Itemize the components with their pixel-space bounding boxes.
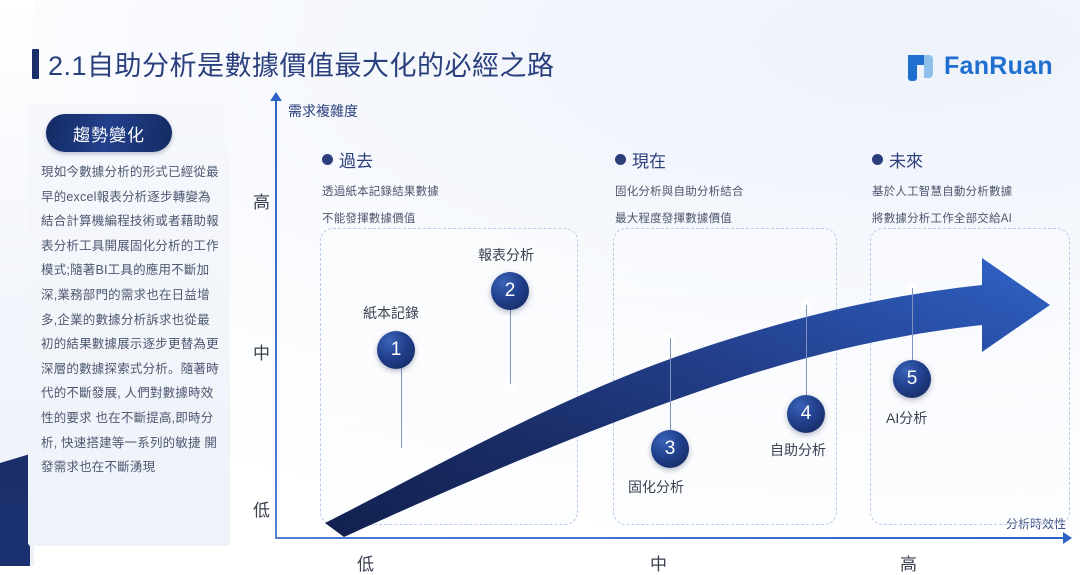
stage-desc-future-1: 基於人工智慧自動分析數據 [872,183,1012,199]
marker-label-3: 固化分析 [628,477,684,497]
x-axis-arrowhead-icon [1063,532,1072,544]
left-edge-navy-bar [0,454,30,566]
stage-desc-past-1: 透過紙本記錄結果數據 [322,183,439,199]
stage-title-past: 過去 [322,147,439,172]
sidebar-paragraph: 現如今數據分析的形式已經從最早的excel報表分析逐步轉變為結合計算機編程技術或… [41,160,219,480]
marker-label-2: 報表分析 [478,245,534,265]
y-tick-high: 高 [253,188,270,213]
stage-name-past: 過去 [339,147,373,172]
x-tick-low: 低 [357,550,374,575]
stage-heading-past: 過去 透過紙本記錄結果數據 不能發揮數據價值 [322,147,439,226]
title-accent-bar [32,49,39,79]
stage-desc-future-2: 將數據分析工作全部交給AI [872,210,1012,226]
marker-1[interactable]: 1 [377,331,415,369]
bullet-dot-icon [322,154,333,165]
marker-label-4: 自助分析 [770,440,826,460]
fanruan-logo-icon [906,52,935,81]
stage-desc-present-1: 固化分析與自助分析結合 [615,183,744,199]
logo-text: FanRuan [944,52,1053,81]
y-axis-arrowhead-icon [270,92,282,101]
y-axis-line [275,98,277,538]
x-axis-line [275,537,1065,539]
marker-label-1: 紙本記錄 [363,303,419,323]
connector-1 [401,360,402,448]
stage-name-present: 現在 [632,147,666,172]
stage-desc-past-2: 不能發揮數據價值 [322,210,439,226]
connector-3 [670,338,671,436]
stage-heading-future: 未來 基於人工智慧自動分析數據 將數據分析工作全部交給AI [872,147,1012,226]
x-tick-high: 高 [900,550,917,575]
page-title: 2.1自助分析是數據價值最大化的必經之路 [32,44,555,83]
bullet-dot-icon [615,154,626,165]
marker-label-5: AI分析 [886,408,927,428]
stage-box-past [320,228,578,525]
title-text: 2.1自助分析是數據價值最大化的必經之路 [48,44,555,83]
trend-badge: 趨勢變化 [46,114,172,152]
x-tick-mid: 中 [650,550,667,575]
connector-2 [510,310,511,384]
y-axis-title: 需求複雜度 [288,101,358,121]
stage-heading-present: 現在 固化分析與自助分析結合 最大程度發揮數據價值 [615,147,744,226]
marker-5[interactable]: 5 [893,360,931,398]
stage-name-future: 未來 [889,147,923,172]
marker-2[interactable]: 2 [491,272,529,310]
stage-title-present: 現在 [615,147,744,172]
brand-logo: FanRuan [906,52,1053,81]
stage-desc-present-2: 最大程度發揮數據價值 [615,210,744,226]
marker-4[interactable]: 4 [787,395,825,433]
bullet-dot-icon [872,154,883,165]
connector-4 [806,305,807,401]
marker-3[interactable]: 3 [651,430,689,468]
y-tick-low: 低 [253,496,270,521]
y-tick-mid: 中 [253,339,270,364]
stage-title-future: 未來 [872,147,1012,172]
slide-canvas: 2.1自助分析是數據價值最大化的必經之路 FanRuan 趨勢變化 現如今數據分… [0,0,1080,566]
